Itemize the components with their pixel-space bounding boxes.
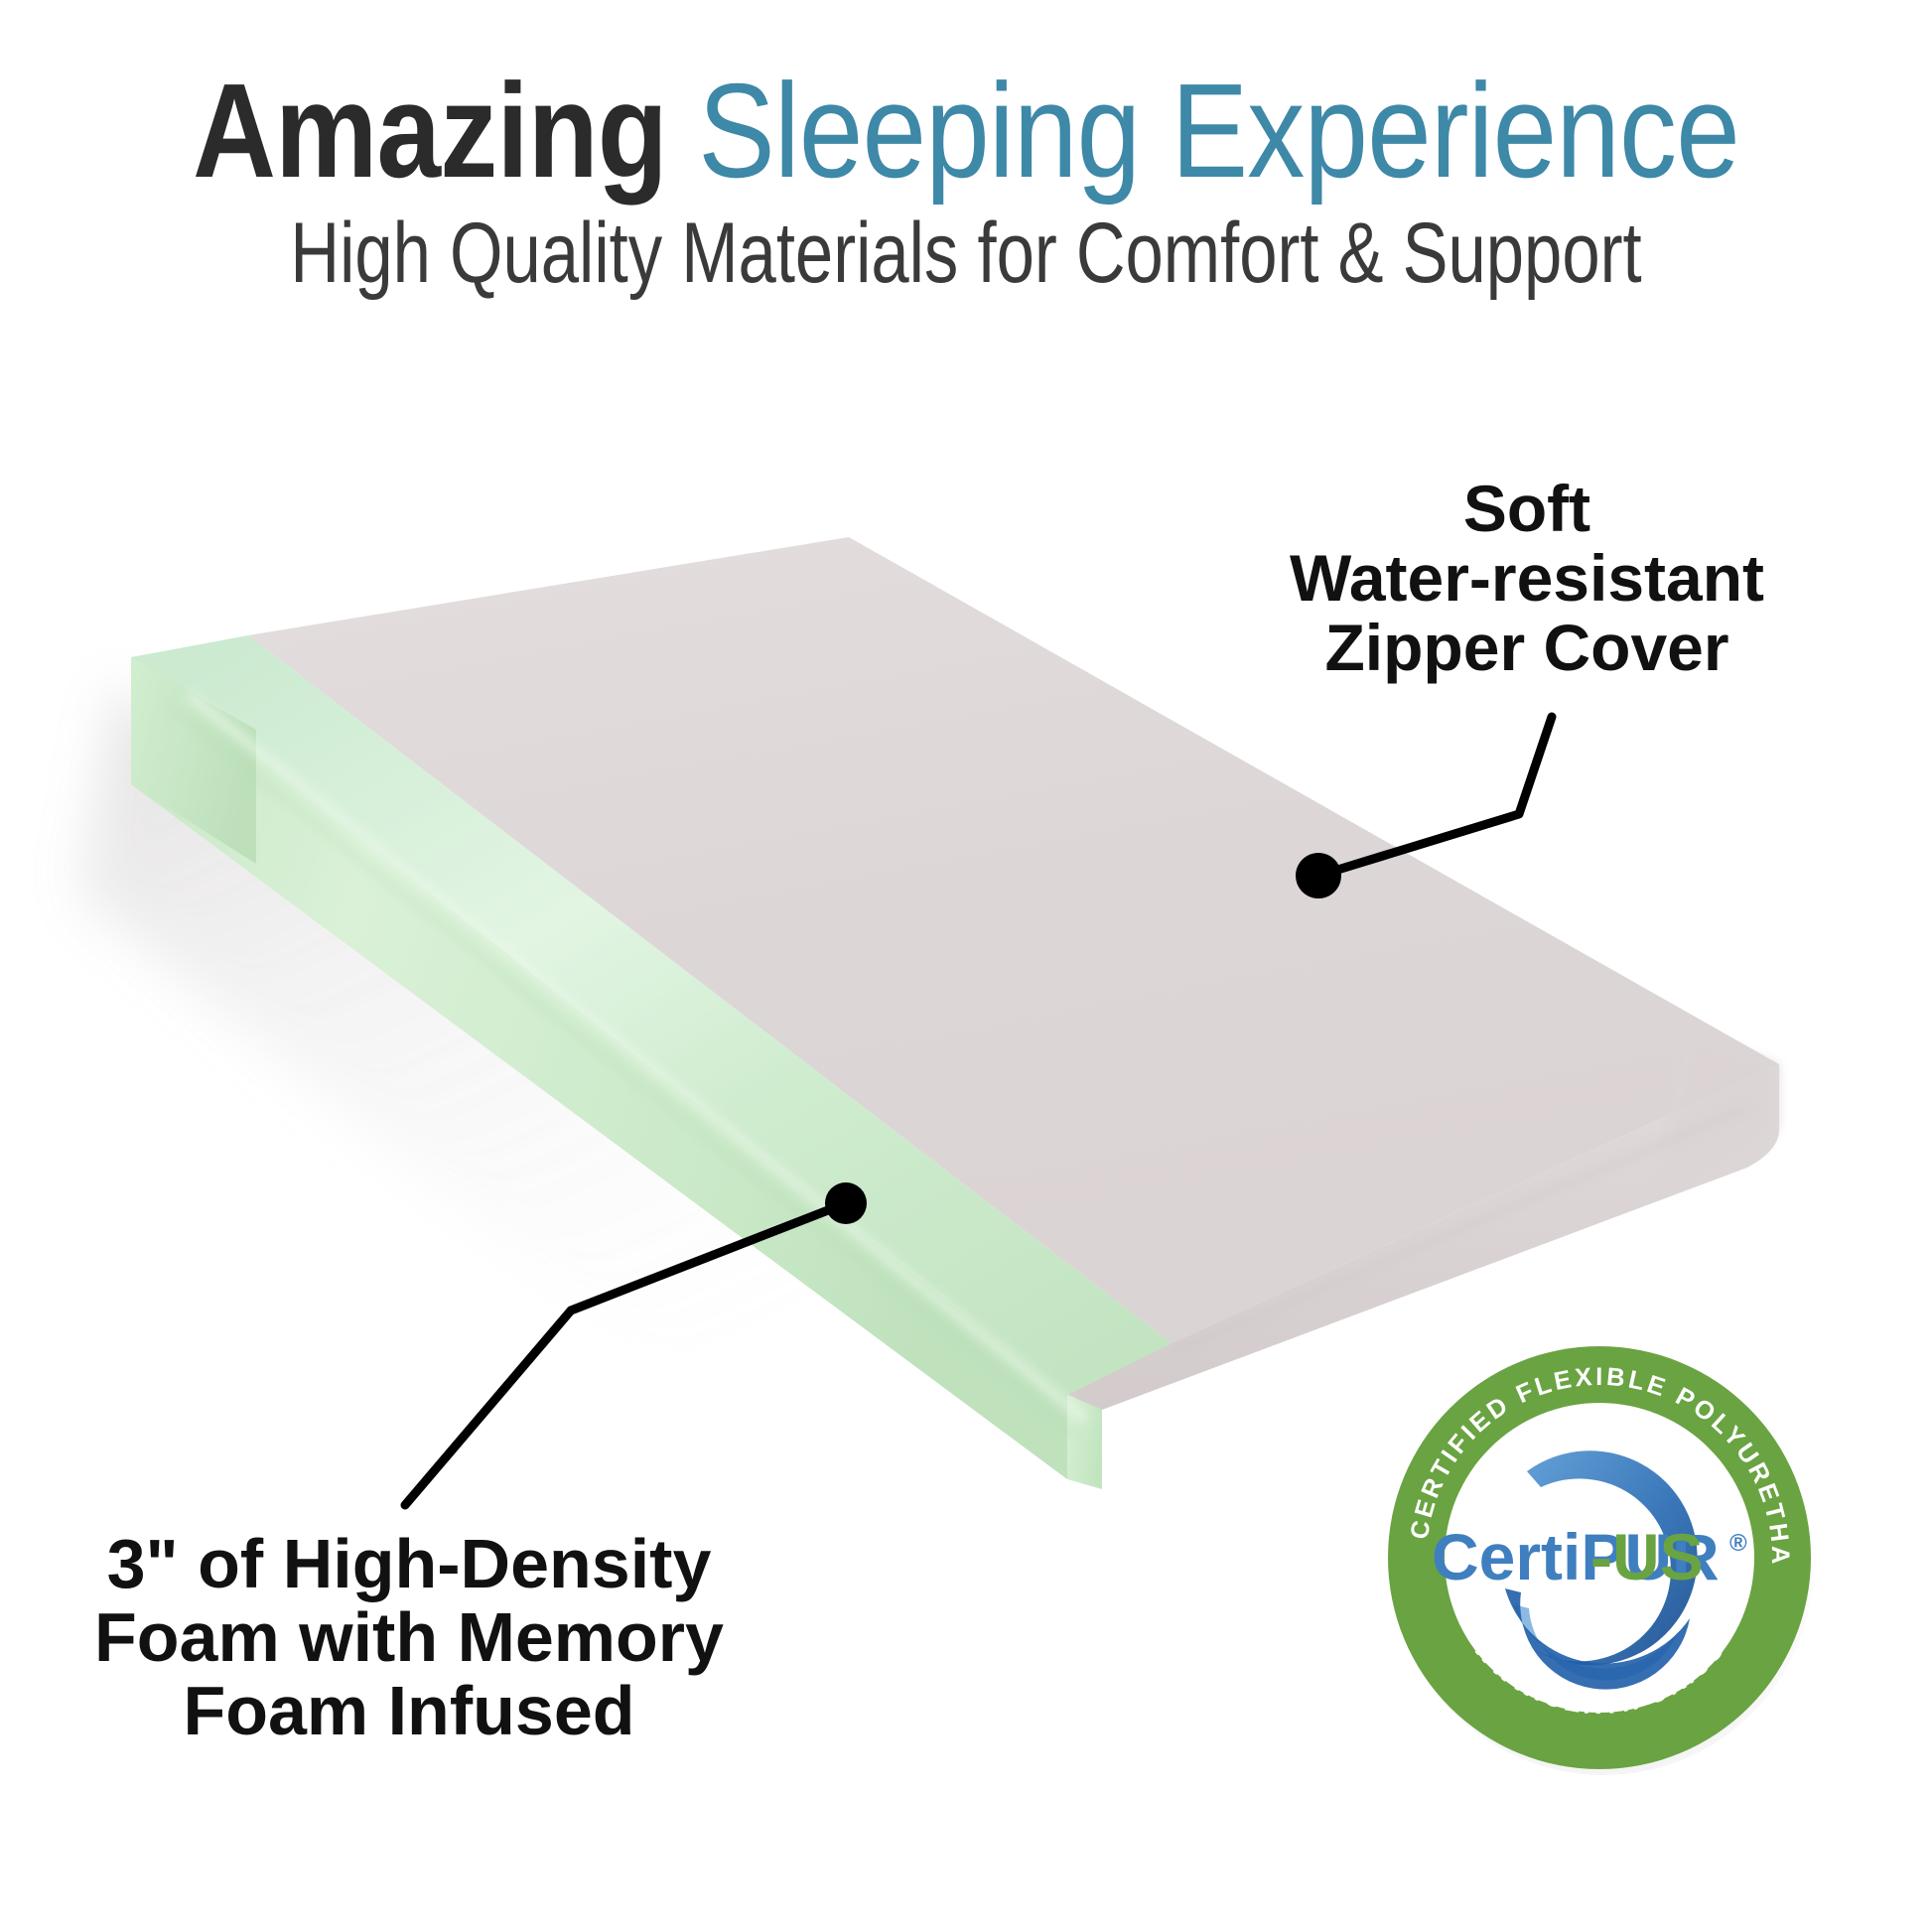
callout-high-density-foam: 3" of High-Density Foam with Memory Foam… [42, 1527, 776, 1748]
cover-seam-line [1172, 1107, 1747, 1353]
memory-foam-right-end-cap [1067, 1395, 1102, 1489]
memory-foam-crease-line [167, 695, 1087, 1438]
zipper-cover-corner-highlight [1648, 1033, 1779, 1196]
badge-registered-mark: ® [1729, 1530, 1747, 1557]
leader-cover [1296, 717, 1552, 898]
page-subtitle: High Quality Materials for Comfort & Sup… [194, 201, 1739, 298]
memory-foam-front-face [131, 657, 1067, 1479]
callout-cover-line-2: Water-resistant [1179, 544, 1874, 614]
badge-brand-us: -US [1590, 1520, 1704, 1593]
headline-part-dark: Amazing [193, 56, 667, 206]
callout-zipper-cover: Soft Water-resistant Zipper Cover [1179, 475, 1874, 683]
certipur-us-badge-graphic: CertiPUR -US ® CONTAINS CERTIFIED FLEXIB… [1380, 1338, 1819, 1777]
callout-foam-line-3: Foam Infused [42, 1674, 776, 1747]
mattress-drop-shadow [79, 685, 1122, 1489]
infographic-page: Amazing Sleeping Experience High Quality… [0, 0, 1932, 1932]
header: Amazing Sleeping Experience High Quality… [0, 0, 1932, 299]
page-title: Amazing Sleeping Experience [135, 0, 1797, 201]
badge-wordmark: CertiPUR -US ® [1432, 1520, 1747, 1593]
memory-foam-top-face [131, 635, 1172, 1395]
callout-foam-line-2: Foam with Memory [42, 1600, 776, 1674]
headline-part-blue: Sleeping Experience [698, 56, 1739, 206]
certipur-us-badge: CertiPUR -US ® CONTAINS CERTIFIED FLEXIB… [1380, 1338, 1819, 1777]
leader-dot-cover [1296, 853, 1341, 898]
callout-foam-line-1: 3" of High-Density [42, 1527, 776, 1600]
memory-foam-left-end-cap [131, 657, 256, 864]
callout-cover-line-3: Zipper Cover [1179, 614, 1874, 683]
leader-dot-foam [825, 1182, 867, 1224]
leader-foam [405, 1182, 867, 1505]
callout-cover-line-1: Soft [1179, 475, 1874, 544]
